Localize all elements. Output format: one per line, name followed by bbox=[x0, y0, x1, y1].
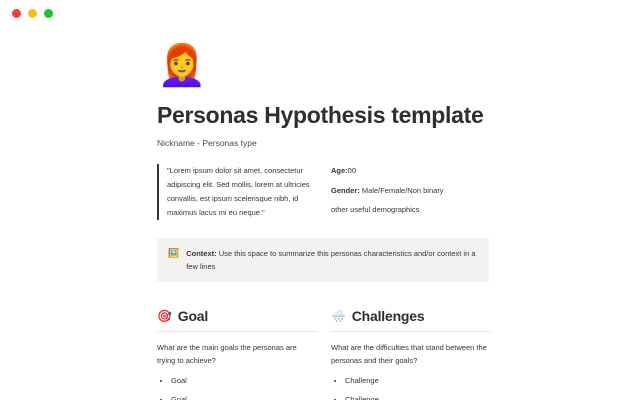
page-title[interactable]: Personas Hypothesis template bbox=[157, 102, 489, 128]
section-challenges: 🌧️ Challenges What are the difficulties … bbox=[331, 308, 491, 400]
gender-row[interactable]: Gender: Male/Female/Non binary bbox=[331, 184, 491, 198]
page-subtitle[interactable]: Nickname - Personas type bbox=[157, 138, 489, 150]
persona-summary-columns: "Lorem ipsum dolor sit amet, consectetur… bbox=[157, 164, 489, 222]
age-value: 00 bbox=[348, 166, 356, 175]
target-icon: 🎯 bbox=[157, 310, 172, 322]
framed-picture-icon: 🖼️ bbox=[168, 247, 179, 261]
close-window-icon[interactable] bbox=[12, 9, 21, 18]
list-item[interactable]: Goal bbox=[171, 375, 317, 387]
window-controls bbox=[12, 9, 53, 18]
list-item[interactable]: Challenge bbox=[345, 375, 491, 387]
persona-avatar-icon[interactable]: 👩‍🦰 bbox=[157, 44, 489, 90]
goal-heading[interactable]: 🎯 Goal bbox=[157, 308, 317, 324]
minimize-window-icon[interactable] bbox=[28, 9, 37, 18]
context-callout-label: Context: bbox=[186, 249, 216, 258]
persona-quote[interactable]: "Lorem ipsum dolor sit amet, consectetur… bbox=[157, 164, 317, 220]
sections-row: 🎯 Goal What are the main goals the perso… bbox=[157, 308, 489, 400]
context-callout-body: Use this space to summarize this persona… bbox=[186, 249, 475, 271]
challenges-divider bbox=[331, 331, 491, 332]
gender-label: Gender: bbox=[331, 186, 360, 195]
document-content: 👩‍🦰 Personas Hypothesis template Nicknam… bbox=[157, 26, 489, 400]
document-page: 👩‍🦰 Personas Hypothesis template Nicknam… bbox=[0, 26, 640, 400]
challenges-heading[interactable]: 🌧️ Challenges bbox=[331, 308, 491, 324]
context-callout[interactable]: 🖼️ Context: Use this space to summarize … bbox=[157, 238, 489, 282]
maximize-window-icon[interactable] bbox=[44, 9, 53, 18]
demographics-list: Age:00 Gender: Male/Female/Non binary ot… bbox=[331, 164, 491, 217]
age-row[interactable]: Age:00 bbox=[331, 164, 491, 178]
list-item[interactable]: Challenge bbox=[345, 394, 491, 400]
goal-heading-label: Goal bbox=[178, 308, 208, 324]
list-item[interactable]: Goal bbox=[171, 394, 317, 400]
challenges-list: Challenge Challenge List bbox=[331, 375, 491, 400]
section-goal: 🎯 Goal What are the main goals the perso… bbox=[157, 308, 317, 400]
goal-divider bbox=[157, 331, 317, 332]
goal-question[interactable]: What are the main goals the personas are… bbox=[157, 341, 317, 367]
context-callout-text: Context: Use this space to summarize thi… bbox=[186, 247, 478, 273]
challenges-heading-label: Challenges bbox=[352, 308, 425, 324]
gender-value: Male/Female/Non binary bbox=[362, 186, 444, 195]
challenges-question[interactable]: What are the difficulties that stand bet… bbox=[331, 341, 491, 367]
quote-column: "Lorem ipsum dolor sit amet, consectetur… bbox=[157, 164, 317, 220]
demographics-column: Age:00 Gender: Male/Female/Non binary ot… bbox=[331, 164, 491, 222]
age-label: Age: bbox=[331, 166, 348, 175]
rain-cloud-icon: 🌧️ bbox=[331, 310, 346, 322]
window-titlebar bbox=[0, 0, 640, 26]
goal-list: Goal Goal List bbox=[157, 375, 317, 400]
other-demographics-row[interactable]: other useful demographics bbox=[331, 203, 491, 217]
